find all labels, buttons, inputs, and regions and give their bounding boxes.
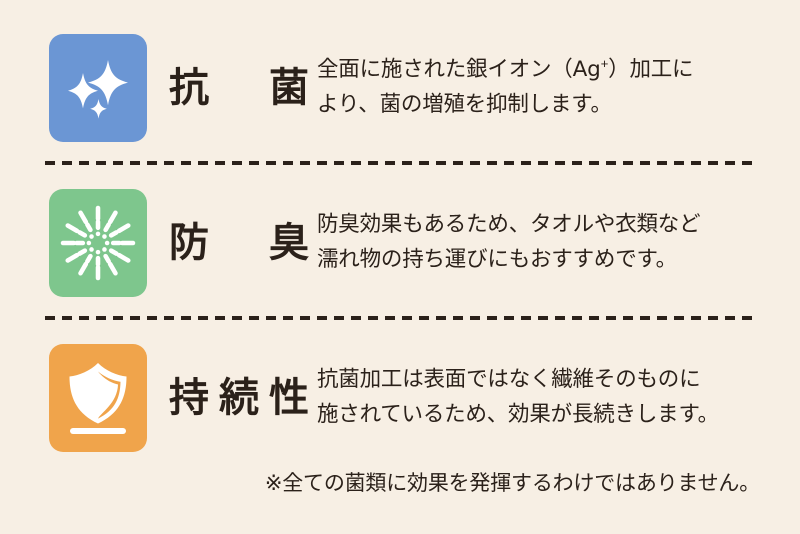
- feature-description-line: 濡れ物の持ち運びにもおすすめです。: [317, 243, 770, 278]
- feature-description: 防臭効果もあるため、タオルや衣類など 濡れ物の持ち運びにもおすすめです。: [317, 208, 800, 278]
- feature-title: 抗 菌: [169, 68, 309, 108]
- feature-title-char: 臭: [269, 223, 309, 263]
- feature-description-line: より、菌の増殖を抑制します。: [317, 88, 770, 123]
- odor-burst-icon-tile: [49, 189, 147, 297]
- feature-row: 防 臭 防臭効果もあるため、タオルや衣類など 濡れ物の持ち運びにもおすすめです。: [0, 183, 800, 303]
- feature-title: 防 臭: [169, 223, 309, 263]
- feature-title-char: 持: [169, 378, 209, 418]
- footnote: ※全ての菌類に効果を発揮するわけではありません。: [0, 470, 760, 497]
- feature-title-char: 抗: [169, 68, 209, 108]
- shield-icon-tile: [49, 344, 147, 452]
- sparkles-icon: [62, 52, 134, 124]
- antibacterial-feature-panel: 抗 菌 全面に施された銀イオン（Ag+）加工に より、菌の増殖を抑制します。: [0, 0, 800, 534]
- desc-text: 全面に施された銀イオン（Ag: [317, 57, 601, 82]
- desc-text: ）加工に: [608, 57, 693, 82]
- odor-burst-icon: [60, 205, 136, 281]
- shield-icon: [63, 359, 133, 437]
- dashed-divider: [45, 161, 757, 165]
- feature-description-line: 防臭効果もあるため、タオルや衣類など: [317, 208, 770, 243]
- dashed-divider: [45, 316, 757, 320]
- feature-description: 抗菌加工は表面ではなく繊維そのものに 施されているため、効果が長続きします。: [317, 363, 800, 433]
- feature-row: 抗 菌 全面に施された銀イオン（Ag+）加工に より、菌の増殖を抑制します。: [0, 28, 800, 148]
- feature-row: 持 続 性 抗菌加工は表面ではなく繊維そのものに 施されているため、効果が長続き…: [0, 338, 800, 458]
- feature-description-line: 抗菌加工は表面ではなく繊維そのものに: [317, 363, 770, 398]
- sparkles-icon-tile: [49, 34, 147, 142]
- feature-title-char: 防: [169, 223, 209, 263]
- feature-description: 全面に施された銀イオン（Ag+）加工に より、菌の増殖を抑制します。: [317, 53, 800, 123]
- feature-title-char: 菌: [269, 68, 309, 108]
- feature-description-line: 施されているため、効果が長続きします。: [317, 398, 770, 433]
- feature-title-char: 続: [219, 378, 259, 418]
- feature-description-line: 全面に施された銀イオン（Ag+）加工に: [317, 53, 770, 88]
- feature-title-char: 性: [269, 378, 309, 418]
- feature-title: 持 続 性: [169, 378, 309, 418]
